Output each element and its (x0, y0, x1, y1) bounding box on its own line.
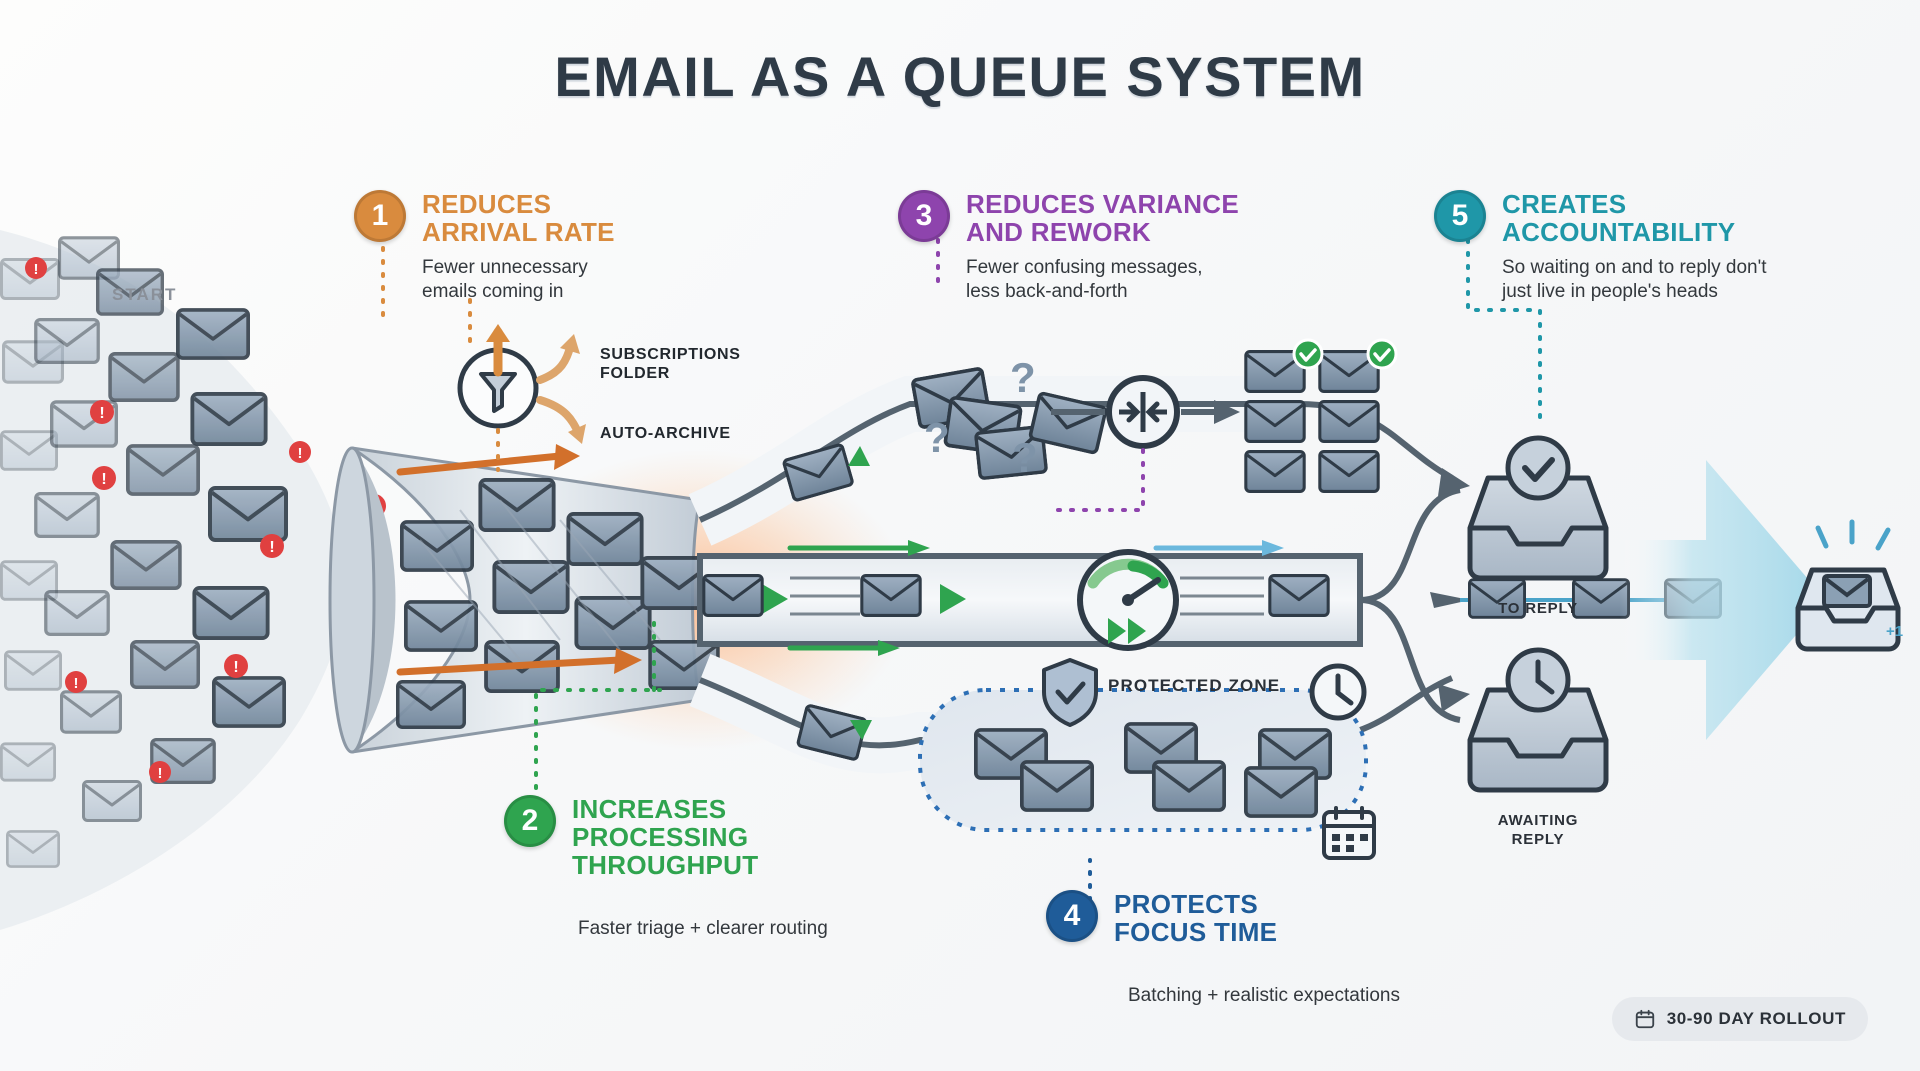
callout-5-number: 5 (1434, 190, 1486, 242)
callout-5-heading-line1: CREATES (1502, 191, 1767, 219)
callout-2-increases-processing-throughput[interactable]: 2 INCREASES PROCESSING THROUGHPUT (504, 795, 864, 879)
auto-archive-label: AUTO-ARCHIVE (600, 424, 800, 443)
callout-4-heading-line1: PROTECTS (1114, 891, 1277, 919)
callout-1-number: 1 (354, 190, 406, 242)
subscriptions-folder-line1: SUBSCRIPTIONS (600, 345, 790, 364)
callout-2-heading-line3: THROUGHPUT (572, 852, 758, 880)
svg-text:!: ! (233, 659, 238, 676)
awaiting-reply-line2: REPLY (1458, 831, 1618, 850)
callout-5-subtitle-line2: just live in people's heads (1502, 280, 1767, 304)
callout-3-subtitle-line1: Fewer confusing messages, (966, 256, 1239, 280)
callout-1-heading-line2: ARRIVAL RATE (422, 219, 615, 247)
callout-1-heading-line1: REDUCES (422, 191, 615, 219)
callout-5-subtitle-line1: So waiting on and to reply don't (1502, 256, 1767, 280)
callout-4-protects-focus-time[interactable]: 4 PROTECTS FOCUS TIME (1046, 890, 1466, 947)
callout-3-heading-line2: AND REWORK (966, 219, 1239, 247)
calendar-icon-zone (1324, 808, 1374, 858)
rollout-badge-label: 30-90 DAY ROLLOUT (1667, 1009, 1846, 1029)
callout-4-number: 4 (1046, 890, 1098, 942)
callout-3-number: 3 (898, 190, 950, 242)
awaiting-reply-tray-icon (1470, 650, 1606, 790)
svg-text:!: ! (99, 405, 104, 422)
confusing-messages-group: ??? (912, 354, 1106, 481)
throughput-gauge-icon (1080, 552, 1176, 648)
inbound-email-swarm: ! ! ! ! ! ! ! ! ! (0, 230, 386, 930)
svg-text:!: ! (74, 675, 79, 692)
filter-funnel-icon (460, 324, 586, 444)
clock-icon-zone (1312, 666, 1364, 718)
start-label: START (112, 285, 177, 305)
svg-text:!: ! (269, 539, 274, 556)
svg-text:+1: +1 (1886, 623, 1903, 640)
bottleneck-funnel (330, 444, 910, 752)
svg-text:?: ? (1010, 354, 1036, 401)
callout-5-creates-accountability[interactable]: 5 CREATES ACCOUNTABILITY So waiting on a… (1434, 190, 1854, 304)
protected-zone-label: PROTECTED ZONE (1108, 676, 1280, 696)
callout-2-heading-line1: INCREASES (572, 796, 758, 824)
resolved-check-badge (1294, 340, 1396, 368)
outcome-arrow (1620, 460, 1826, 740)
to-reply-label: TO REPLY (1458, 600, 1618, 619)
final-inbox-icon: +1 (1798, 522, 1903, 649)
callout-1-subtitle-line2: emails coming in (422, 280, 615, 304)
callout-3-reduces-variance-and-rework[interactable]: 3 REDUCES VARIANCE AND REWORK Fewer conf… (898, 190, 1298, 304)
svg-text:!: ! (298, 445, 303, 462)
awaiting-reply-label: AWAITING REPLY (1458, 812, 1618, 850)
variance-reduction-cluster: ??? (912, 340, 1396, 491)
svg-text:?: ? (924, 414, 950, 461)
subscriptions-folder-label: SUBSCRIPTIONS FOLDER (600, 345, 790, 383)
callout-2-subtitle: Faster triage + clearer routing (578, 917, 998, 941)
svg-text:!: ! (101, 471, 106, 488)
flow-diagram-artwork: ! ! ! ! ! ! ! ! ! (0, 0, 1920, 1071)
callout-3-subtitle-line2: less back-and-forth (966, 280, 1239, 304)
shield-check-icon (1044, 660, 1096, 725)
output-pipes (700, 404, 1721, 760)
callout-2-heading-line2: PROCESSING (572, 824, 758, 852)
awaiting-reply-line1: AWAITING (1458, 812, 1618, 831)
clean-message-grid (1246, 340, 1396, 491)
page-title: EMAIL AS A QUEUE SYSTEM (0, 44, 1920, 109)
callout-2-number: 2 (504, 795, 556, 847)
to-reply-tray-icon (1470, 438, 1606, 578)
infographic-canvas: ! ! ! ! ! ! ! ! ! (0, 0, 1920, 1071)
unread-alert-badges: ! ! ! ! ! ! ! ! ! (25, 257, 386, 783)
callout-5-heading-line2: ACCOUNTABILITY (1502, 219, 1767, 247)
callout-3-heading-line1: REDUCES VARIANCE (966, 191, 1239, 219)
svg-text:?: ? (1012, 434, 1038, 481)
calendar-icon (1634, 1008, 1656, 1030)
svg-text:!: ! (34, 261, 39, 278)
callout-1-reduces-arrival-rate[interactable]: 1 REDUCES ARRIVAL RATE Fewer unnecessary… (354, 190, 684, 304)
subscriptions-folder-line2: FOLDER (600, 364, 790, 383)
callout-4-subtitle: Batching + realistic expectations (1128, 984, 1588, 1008)
callout-4-heading-line2: FOCUS TIME (1114, 919, 1277, 947)
merge-node-icon (1109, 378, 1177, 446)
rollout-badge[interactable]: 30-90 DAY ROLLOUT (1612, 997, 1868, 1041)
svg-text:!: ! (158, 765, 163, 782)
svg-text:!: ! (371, 499, 376, 516)
callout-1-subtitle-line1: Fewer unnecessary (422, 256, 615, 280)
